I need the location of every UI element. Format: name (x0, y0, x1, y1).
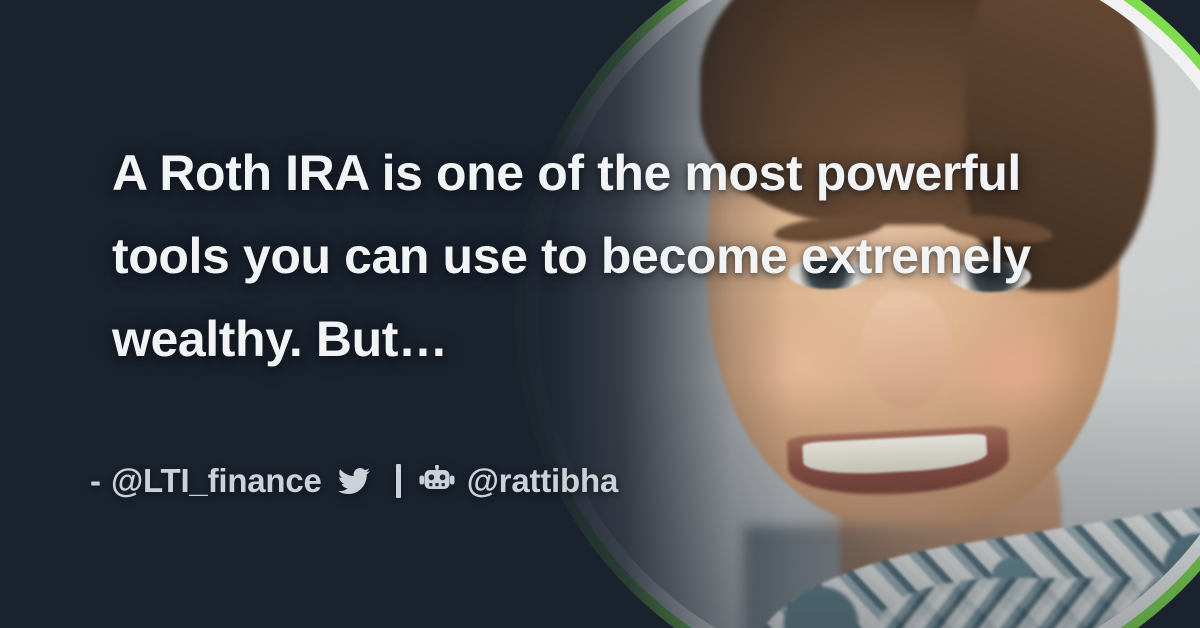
quote-card: A Roth IRA is one of the most powerful t… (0, 0, 1200, 628)
quote-text: A Roth IRA is one of the most powerful t… (112, 132, 1032, 381)
attribution-line: - @LTI_finance (90, 462, 618, 500)
robot-icon[interactable] (419, 465, 455, 497)
service-handle[interactable]: @rattibha (467, 462, 618, 500)
twitter-bird-icon[interactable] (335, 465, 373, 497)
attribution-dash: - (90, 462, 101, 500)
author-handle[interactable]: @LTI_finance (111, 462, 322, 500)
bottom-fade-overlay (0, 377, 1200, 628)
attribution-separator (396, 464, 401, 498)
